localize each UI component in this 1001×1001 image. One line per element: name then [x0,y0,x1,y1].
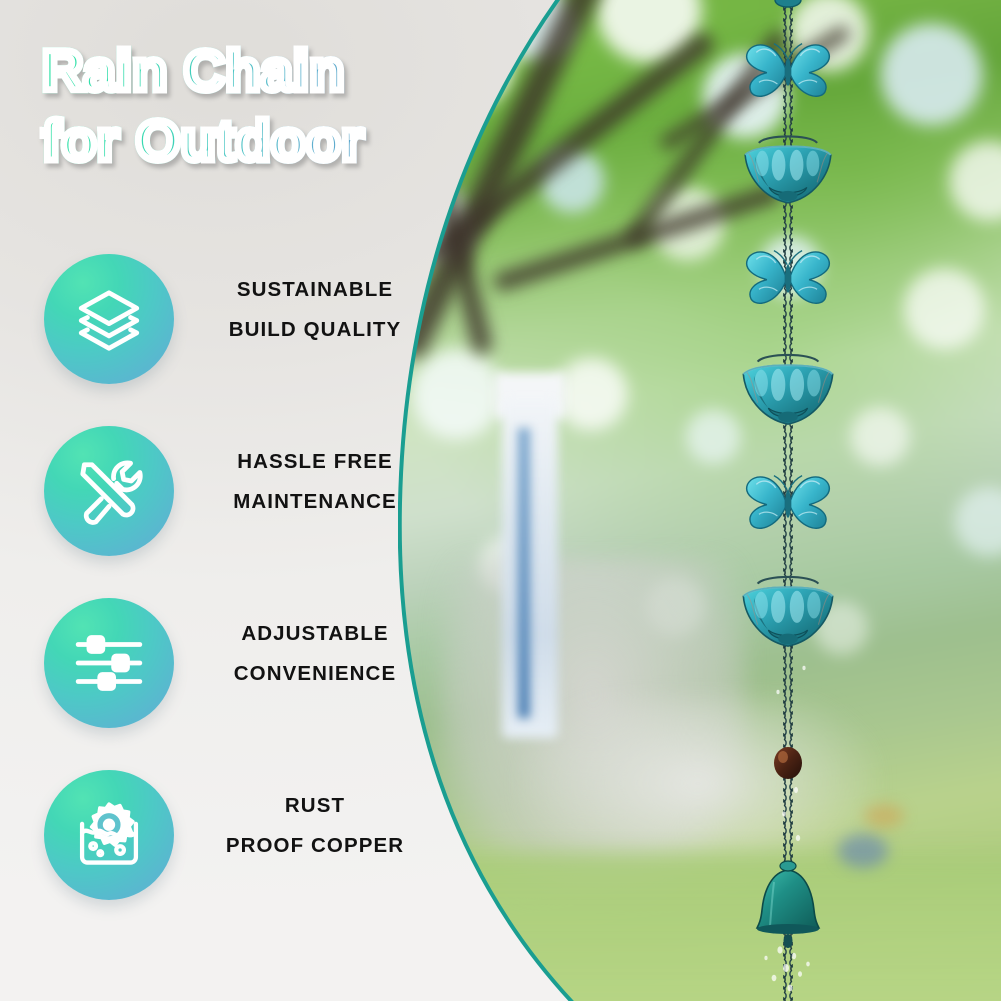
feature-icon-badge [44,598,174,728]
feature-label-line-2: CONVENIENCE [190,654,440,694]
layers-icon [72,282,146,356]
flower-cup [745,136,831,202]
background-post-stripe [518,428,530,718]
chain-top-fitting [775,0,801,7]
feature-label-line-2: BUILD QUALITY [190,310,440,350]
feature-icon-badge [44,770,174,900]
page-title: Rain Chain for Outdoor [42,36,442,176]
feature-label: ADJUSTABLE CONVENIENCE [190,614,440,694]
gear-in-water-icon [71,797,147,873]
feature-item: RUST PROOF COPPER [40,762,432,934]
flower-cup [743,577,832,646]
feature-item: SUSTAINABLE BUILD QUALITY [40,246,432,418]
sliders-icon [72,626,146,700]
feature-label-line-2: MAINTENANCE [190,482,440,522]
background-lawn [398,853,1001,1001]
feature-label: HASSLE FREE MAINTENANCE [190,442,440,522]
product-infographic: Rain Chain for Outdoor SUSTAINABLE BUILD… [0,0,1001,1001]
wrench-screwdriver-icon [72,454,146,528]
feature-list: SUSTAINABLE BUILD QUALITY HASSLE FREE MA… [40,246,432,934]
feature-label-line-1: SUSTAINABLE [190,270,440,310]
background-blur-blob [864,804,904,828]
feature-item: ADJUSTABLE CONVENIENCE [40,590,432,762]
flower-cup [743,355,832,424]
amber-bead [774,747,802,779]
feature-icon-badge [44,254,174,384]
product-photo [398,0,1001,1001]
title-line-1: Rain Chain [42,36,442,106]
feature-label: RUST PROOF COPPER [190,786,440,866]
feature-label-line-1: ADJUSTABLE [190,614,440,654]
feature-item: HASSLE FREE MAINTENANCE [40,418,432,590]
feature-label-line-1: RUST [190,786,440,826]
bell-ornament [757,861,819,948]
feature-icon-badge [44,426,174,556]
feature-label: SUSTAINABLE BUILD QUALITY [190,270,440,350]
rain-chain-product [728,0,848,1001]
feature-label-line-1: HASSLE FREE [190,442,440,482]
title-line-2: for Outdoor [42,106,442,176]
feature-label-line-2: PROOF COPPER [190,826,440,866]
background-post [502,398,558,738]
